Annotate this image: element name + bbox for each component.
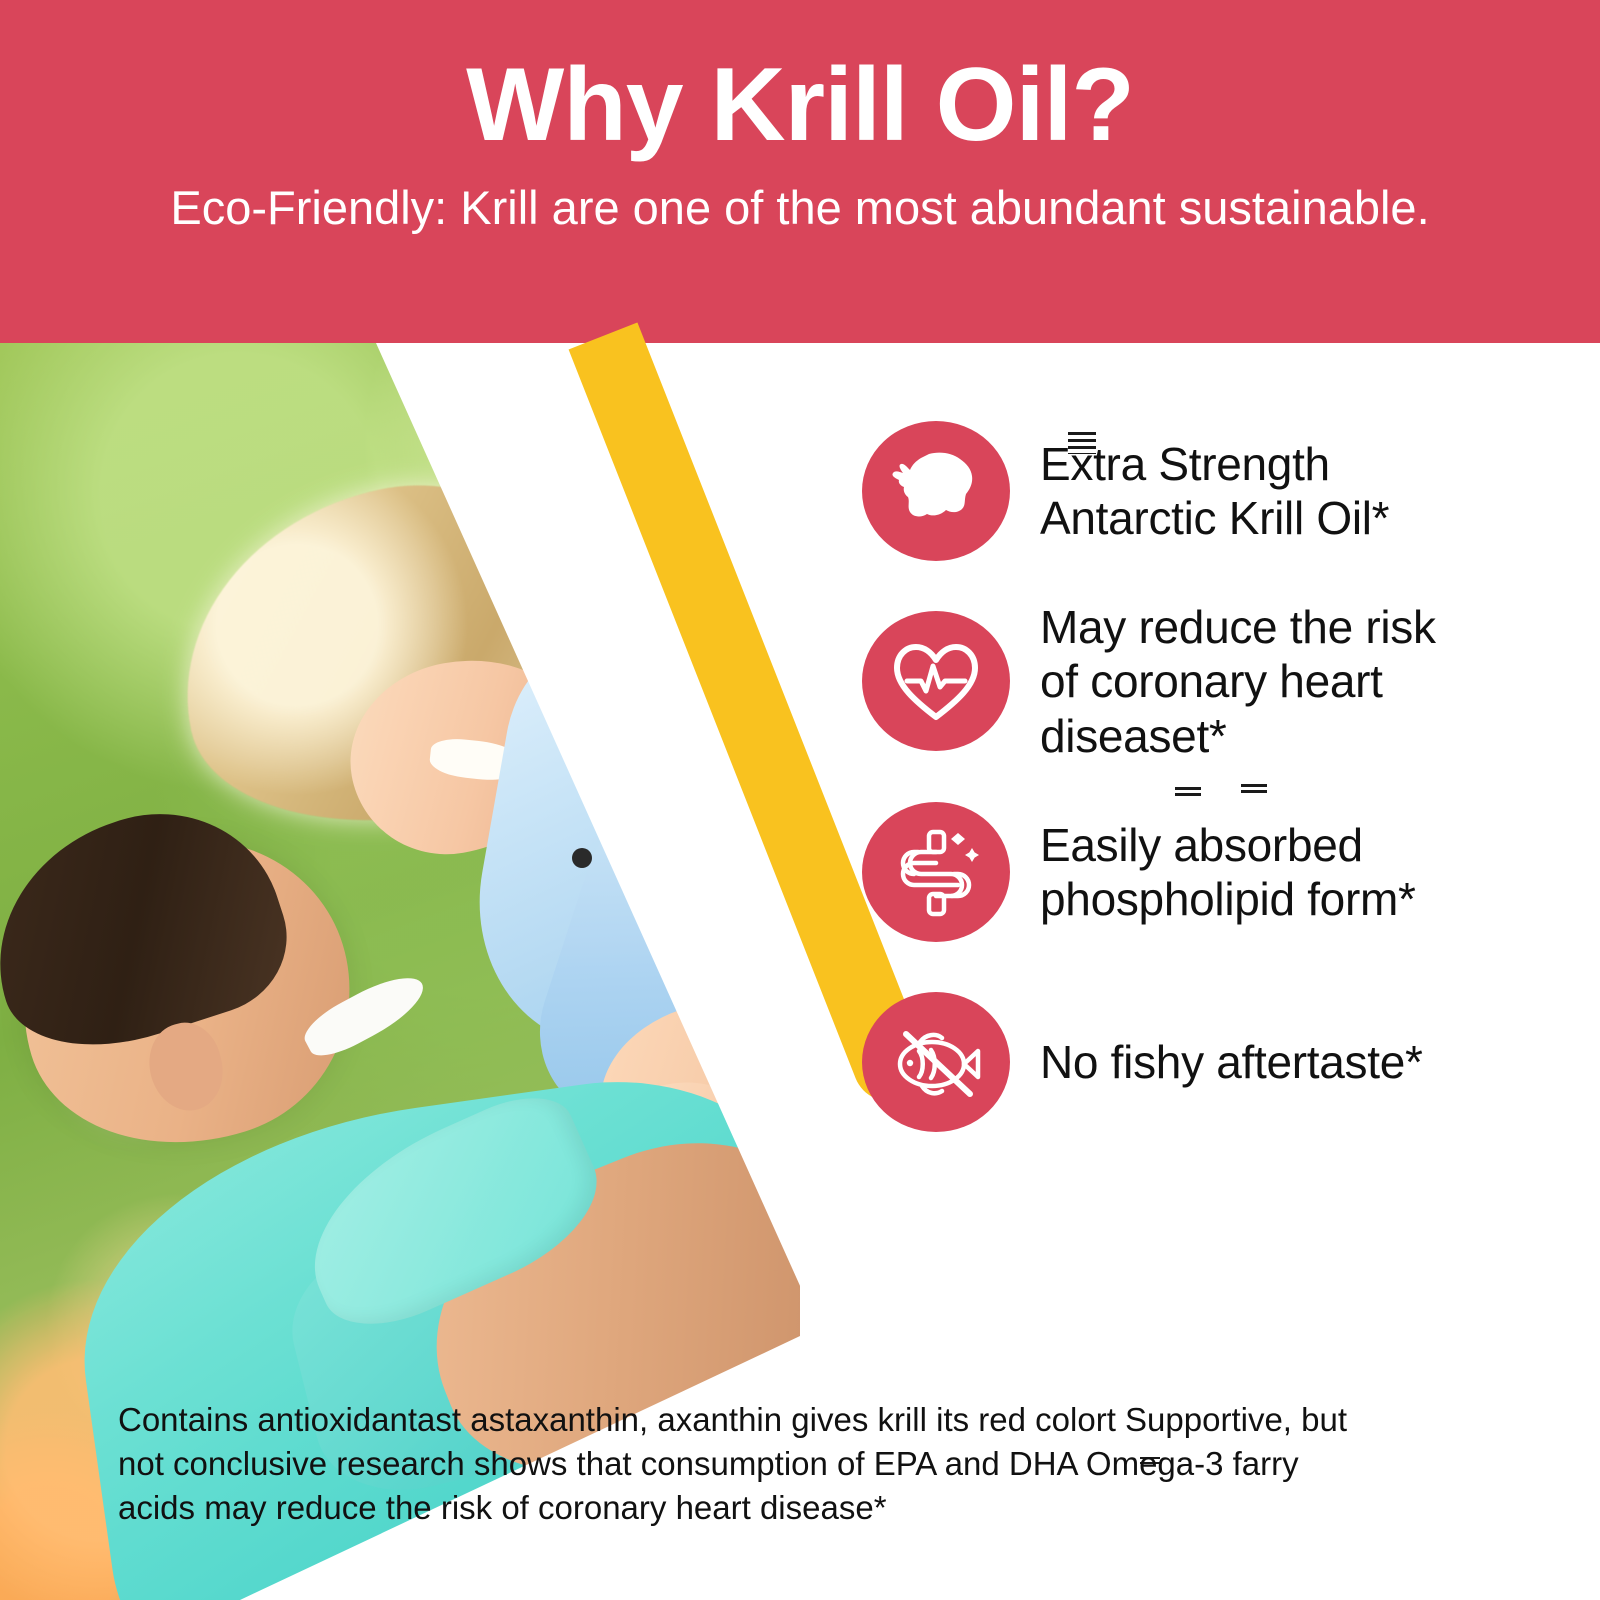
child-shirt-button xyxy=(572,848,592,868)
feature-label-line: No fishy aftertaste* xyxy=(1040,1035,1423,1089)
disclaimer-line: not conclusive research shows that consu… xyxy=(118,1442,1458,1486)
feature-item: May reduce the risk of coronary heart di… xyxy=(862,600,1562,763)
feature-item: Extra Strength Antarctic Krill Oil* xyxy=(862,410,1562,572)
feature-list: Extra Strength Antarctic Krill Oil* May … xyxy=(862,410,1562,1171)
feature-label-line: diseaset* xyxy=(1040,709,1436,763)
disclaimer-text: Contains antioxidantast astaxanthin, axa… xyxy=(118,1398,1458,1530)
disclaimer-line: acids may reduce the risk of coronary he… xyxy=(118,1486,1458,1530)
feature-label: May reduce the risk of coronary heart di… xyxy=(1040,600,1436,763)
disclaimer-line: Contains antioxidantast astaxanthin, axa… xyxy=(118,1398,1458,1442)
feature-label-line: phospholipid form* xyxy=(1040,872,1416,926)
feature-label-line: Extra Strength xyxy=(1040,437,1389,491)
feature-label-line: Antarctic Krill Oil* xyxy=(1040,491,1389,545)
no-fish-icon xyxy=(862,992,1010,1132)
feature-label-line: of coronary heart xyxy=(1040,654,1436,708)
intestine-sparkle-icon xyxy=(862,802,1010,942)
page-title: Why Krill Oil? xyxy=(466,52,1134,158)
feature-label: No fishy aftertaste* xyxy=(1040,1035,1423,1089)
feature-label: Easily absorbed phospholipid form* xyxy=(1040,818,1416,927)
feature-label-line: May reduce the risk xyxy=(1040,600,1436,654)
infographic-page: Why Krill Oil? Eco-Friendly: Krill are o… xyxy=(0,0,1600,1600)
page-subtitle: Eco-Friendly: Krill are one of the most … xyxy=(170,182,1429,234)
feature-item: No fishy aftertaste* xyxy=(862,981,1562,1143)
feature-label-line: Easily absorbed xyxy=(1040,818,1416,872)
header-banner: Why Krill Oil? Eco-Friendly: Krill are o… xyxy=(0,0,1600,343)
antarctica-continent-icon xyxy=(862,421,1010,561)
feature-label: Extra Strength Antarctic Krill Oil* xyxy=(1040,437,1389,546)
feature-item: Easily absorbed phospholipid form* xyxy=(862,791,1562,953)
heart-pulse-icon xyxy=(862,611,1010,751)
